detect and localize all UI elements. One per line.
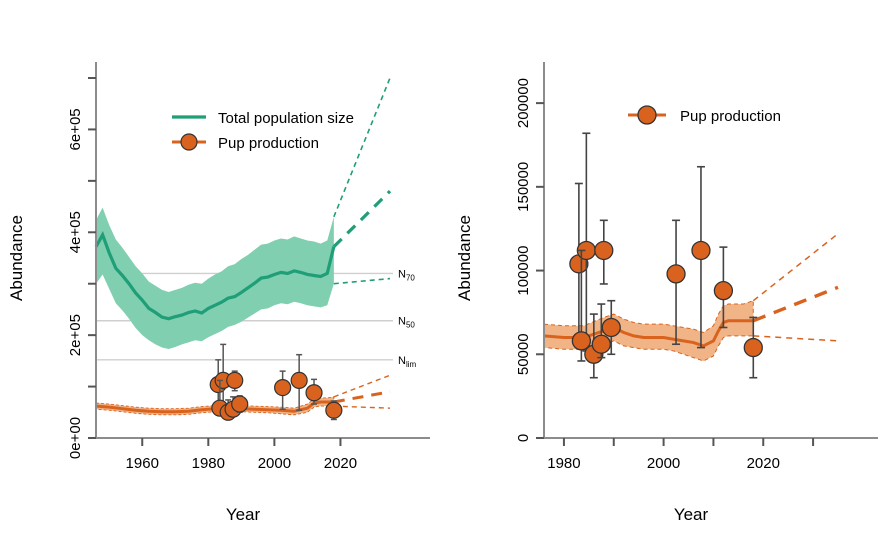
- threshold-label-text-Nlim: Nlim: [398, 355, 417, 369]
- left-panel-plot: N70N50Nlim19601980200020200e+002e+054e+0…: [0, 0, 448, 559]
- x-tick-label: 2020: [747, 455, 780, 472]
- y-tick-label: 200000: [515, 78, 532, 128]
- observation-marker: [667, 265, 685, 283]
- y-axis-title: Abundance: [455, 215, 474, 301]
- legend-label-pup-production: Pup production: [218, 135, 319, 152]
- observation-marker: [275, 380, 291, 396]
- y-tick-label: 50000: [515, 333, 532, 375]
- observation-marker: [595, 241, 613, 259]
- x-tick-label: 1980: [192, 455, 225, 472]
- y-tick-label: 0e+00: [67, 417, 84, 459]
- threshold-sub-N70: 70: [406, 273, 415, 282]
- observation-point: [577, 133, 595, 351]
- pup-production-projection-lower: [753, 336, 838, 341]
- pup-production-projection-lower: [334, 406, 390, 408]
- legend-marker-pup-production: [638, 106, 656, 124]
- observation-marker: [326, 402, 342, 418]
- observation-point: [326, 401, 342, 420]
- observation-marker: [227, 372, 243, 388]
- right-panel-plot: 198020002020050000100000150000200000Year…: [448, 0, 895, 559]
- observation-marker: [592, 335, 610, 353]
- observation-point: [227, 371, 243, 391]
- observation-point: [692, 167, 710, 348]
- pup-production-projection-median: [753, 287, 838, 320]
- observation-point: [291, 355, 307, 411]
- panel-right-pup-production: 198020002020050000100000150000200000Year…: [448, 0, 895, 559]
- observation-marker: [602, 318, 620, 336]
- legend-right: Pup production: [628, 106, 781, 125]
- observation-point: [595, 220, 613, 284]
- legend-label-pup-production: Pup production: [680, 108, 781, 125]
- y-tick-label: 0: [515, 434, 532, 442]
- threshold-label-text-N50: N50: [398, 316, 415, 330]
- observation-marker: [232, 396, 248, 412]
- threshold-label-text-N70: N70: [398, 268, 415, 282]
- pup-production-band: [544, 301, 753, 361]
- legend-left: Total population sizePup production: [172, 110, 354, 152]
- x-tick-label: 2000: [647, 455, 680, 472]
- figure-container: N70N50Nlim19601980200020200e+002e+054e+0…: [0, 0, 895, 559]
- y-tick-label: 150000: [515, 162, 532, 212]
- threshold-sub-Nlim: lim: [406, 360, 417, 369]
- observation-marker: [692, 241, 710, 259]
- total-population-projection-upper: [334, 78, 390, 217]
- observation-marker: [744, 339, 762, 357]
- x-tick-label: 1960: [126, 455, 159, 472]
- x-tick-label: 2000: [258, 455, 291, 472]
- y-axis-title: Abundance: [7, 215, 26, 301]
- total-population-projection-median: [334, 191, 390, 247]
- y-tick-label: 4e+05: [67, 211, 84, 253]
- total-population-band: [96, 208, 334, 349]
- panel-left-total-population: N70N50Nlim19601980200020200e+002e+054e+0…: [0, 0, 448, 559]
- observation-marker: [306, 385, 322, 401]
- x-tick-label: 2020: [324, 455, 357, 472]
- observation-marker: [714, 282, 732, 300]
- x-axis-title: Year: [226, 505, 261, 524]
- observation-marker: [291, 372, 307, 388]
- observation-point: [232, 396, 248, 412]
- legend-marker-pup-production: [181, 134, 197, 150]
- threshold-label-Nlim: Nlim: [398, 355, 417, 369]
- observation-point: [275, 371, 291, 409]
- threshold-label-N50: N50: [398, 316, 415, 330]
- legend-label-total-population: Total population size: [218, 110, 354, 127]
- y-tick-label: 6e+05: [67, 108, 84, 150]
- total-population-projection-lower: [334, 279, 390, 284]
- x-tick-label: 1980: [547, 455, 580, 472]
- x-axis-title: Year: [674, 505, 709, 524]
- threshold-label-N70: N70: [398, 268, 415, 282]
- threshold-sub-N50: 50: [406, 321, 415, 330]
- y-tick-label: 100000: [515, 246, 532, 296]
- y-tick-label: 2e+05: [67, 314, 84, 356]
- observation-point: [570, 183, 588, 337]
